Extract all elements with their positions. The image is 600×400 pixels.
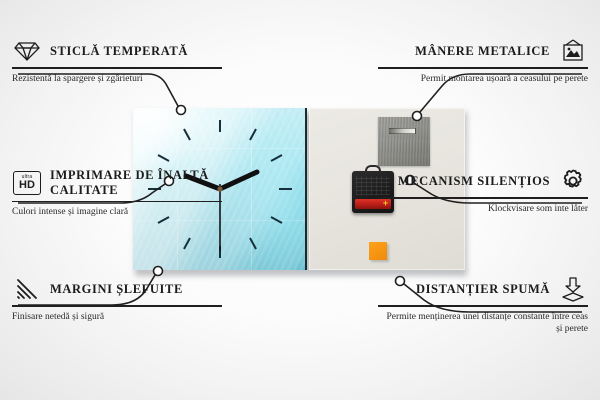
- feature-subtitle: Culori intense și imagine clară: [12, 202, 222, 219]
- polished-edges-icon: [12, 276, 42, 302]
- feature-title: STICLĂ TEMPERATĂ: [50, 44, 188, 59]
- feature-sticla-temperata[interactable]: STICLĂ TEMPERATĂ Rezistentă la spargere …: [12, 38, 222, 85]
- feature-subtitle: Rezistentă la spargere și zgârieturi: [12, 69, 222, 86]
- diamond-icon: [12, 38, 42, 64]
- gear-icon: [558, 168, 588, 194]
- infographic-canvas: +: [0, 0, 600, 400]
- feature-title: IMPRIMARE DE ÎNALTĂ CALITATE: [50, 168, 222, 198]
- ultra-hd-icon: ultra HD: [12, 170, 42, 196]
- feature-title: MÂNERE METALICE: [415, 44, 550, 59]
- feature-subtitle: Permit montarea ușoară a ceasului pe per…: [378, 69, 588, 86]
- foam-spacer-icon: [558, 276, 588, 302]
- feature-title: MARGINI ȘLEFUITE: [50, 282, 183, 297]
- feature-subtitle: Finisare netedă și sigură: [12, 307, 222, 324]
- feature-mecanism-silentios[interactable]: MECANISM SILENȚIOS Klockvisare som inte …: [378, 168, 588, 215]
- feature-subtitle: Klockvisare som inte låter: [378, 199, 588, 216]
- ultra-hd-main-text: HD: [19, 180, 35, 191]
- feature-distantier-spuma[interactable]: DISTANȚIER SPUMĂ Permite menținerea unei…: [378, 276, 588, 336]
- feature-imprimare-calitate[interactable]: ultra HD IMPRIMARE DE ÎNALTĂ CALITATE Cu…: [12, 168, 222, 219]
- feature-manere-metalice[interactable]: MÂNERE METALICE Permit montarea ușoară a…: [378, 38, 588, 85]
- picture-hanger-icon: [558, 38, 588, 64]
- feature-title: DISTANȚIER SPUMĂ: [416, 282, 550, 297]
- feature-subtitle: Permite menținerea unei distanțe constan…: [378, 307, 588, 337]
- feature-margini-slefuite[interactable]: MARGINI ȘLEFUITE Finisare netedă și sigu…: [12, 276, 222, 323]
- feature-title: MECANISM SILENȚIOS: [398, 174, 550, 189]
